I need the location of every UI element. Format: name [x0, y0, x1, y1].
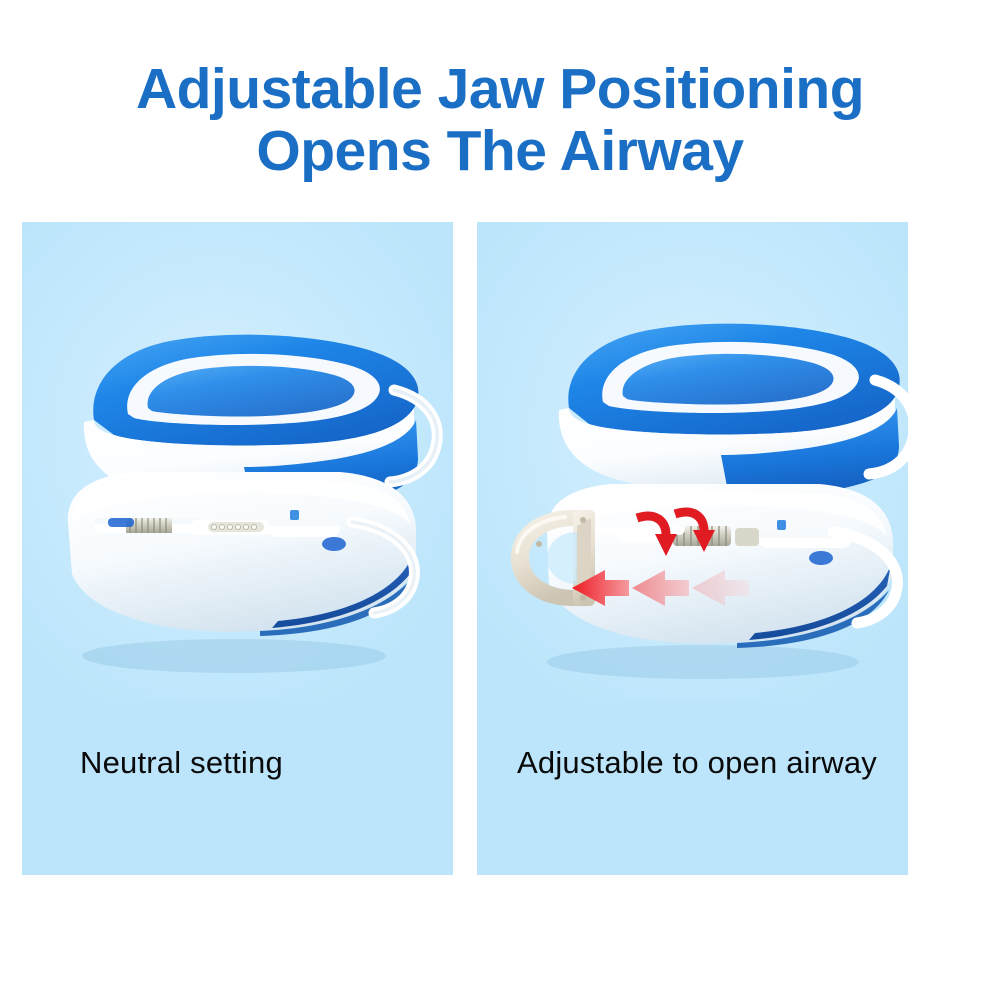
mouthpiece-illustration-adjusted: [477, 222, 908, 702]
panel-caption-adjustable: Adjustable to open airway: [477, 745, 908, 781]
page-title-line-1: Adjustable Jaw Positioning: [0, 58, 1000, 120]
comparison-panels: Neutral setting: [22, 222, 978, 875]
page-title: Adjustable Jaw Positioning Opens The Air…: [0, 58, 1000, 182]
panel-caption-neutral: Neutral setting: [22, 745, 453, 781]
panel-neutral-setting: Neutral setting: [22, 222, 453, 875]
product-image-neutral: [22, 222, 453, 702]
panel-adjustable-setting: Adjustable to open airway: [477, 222, 908, 875]
mouthpiece-illustration-neutral: [22, 222, 453, 702]
page-title-line-2: Opens The Airway: [0, 120, 1000, 182]
product-image-adjusted: [477, 222, 908, 702]
